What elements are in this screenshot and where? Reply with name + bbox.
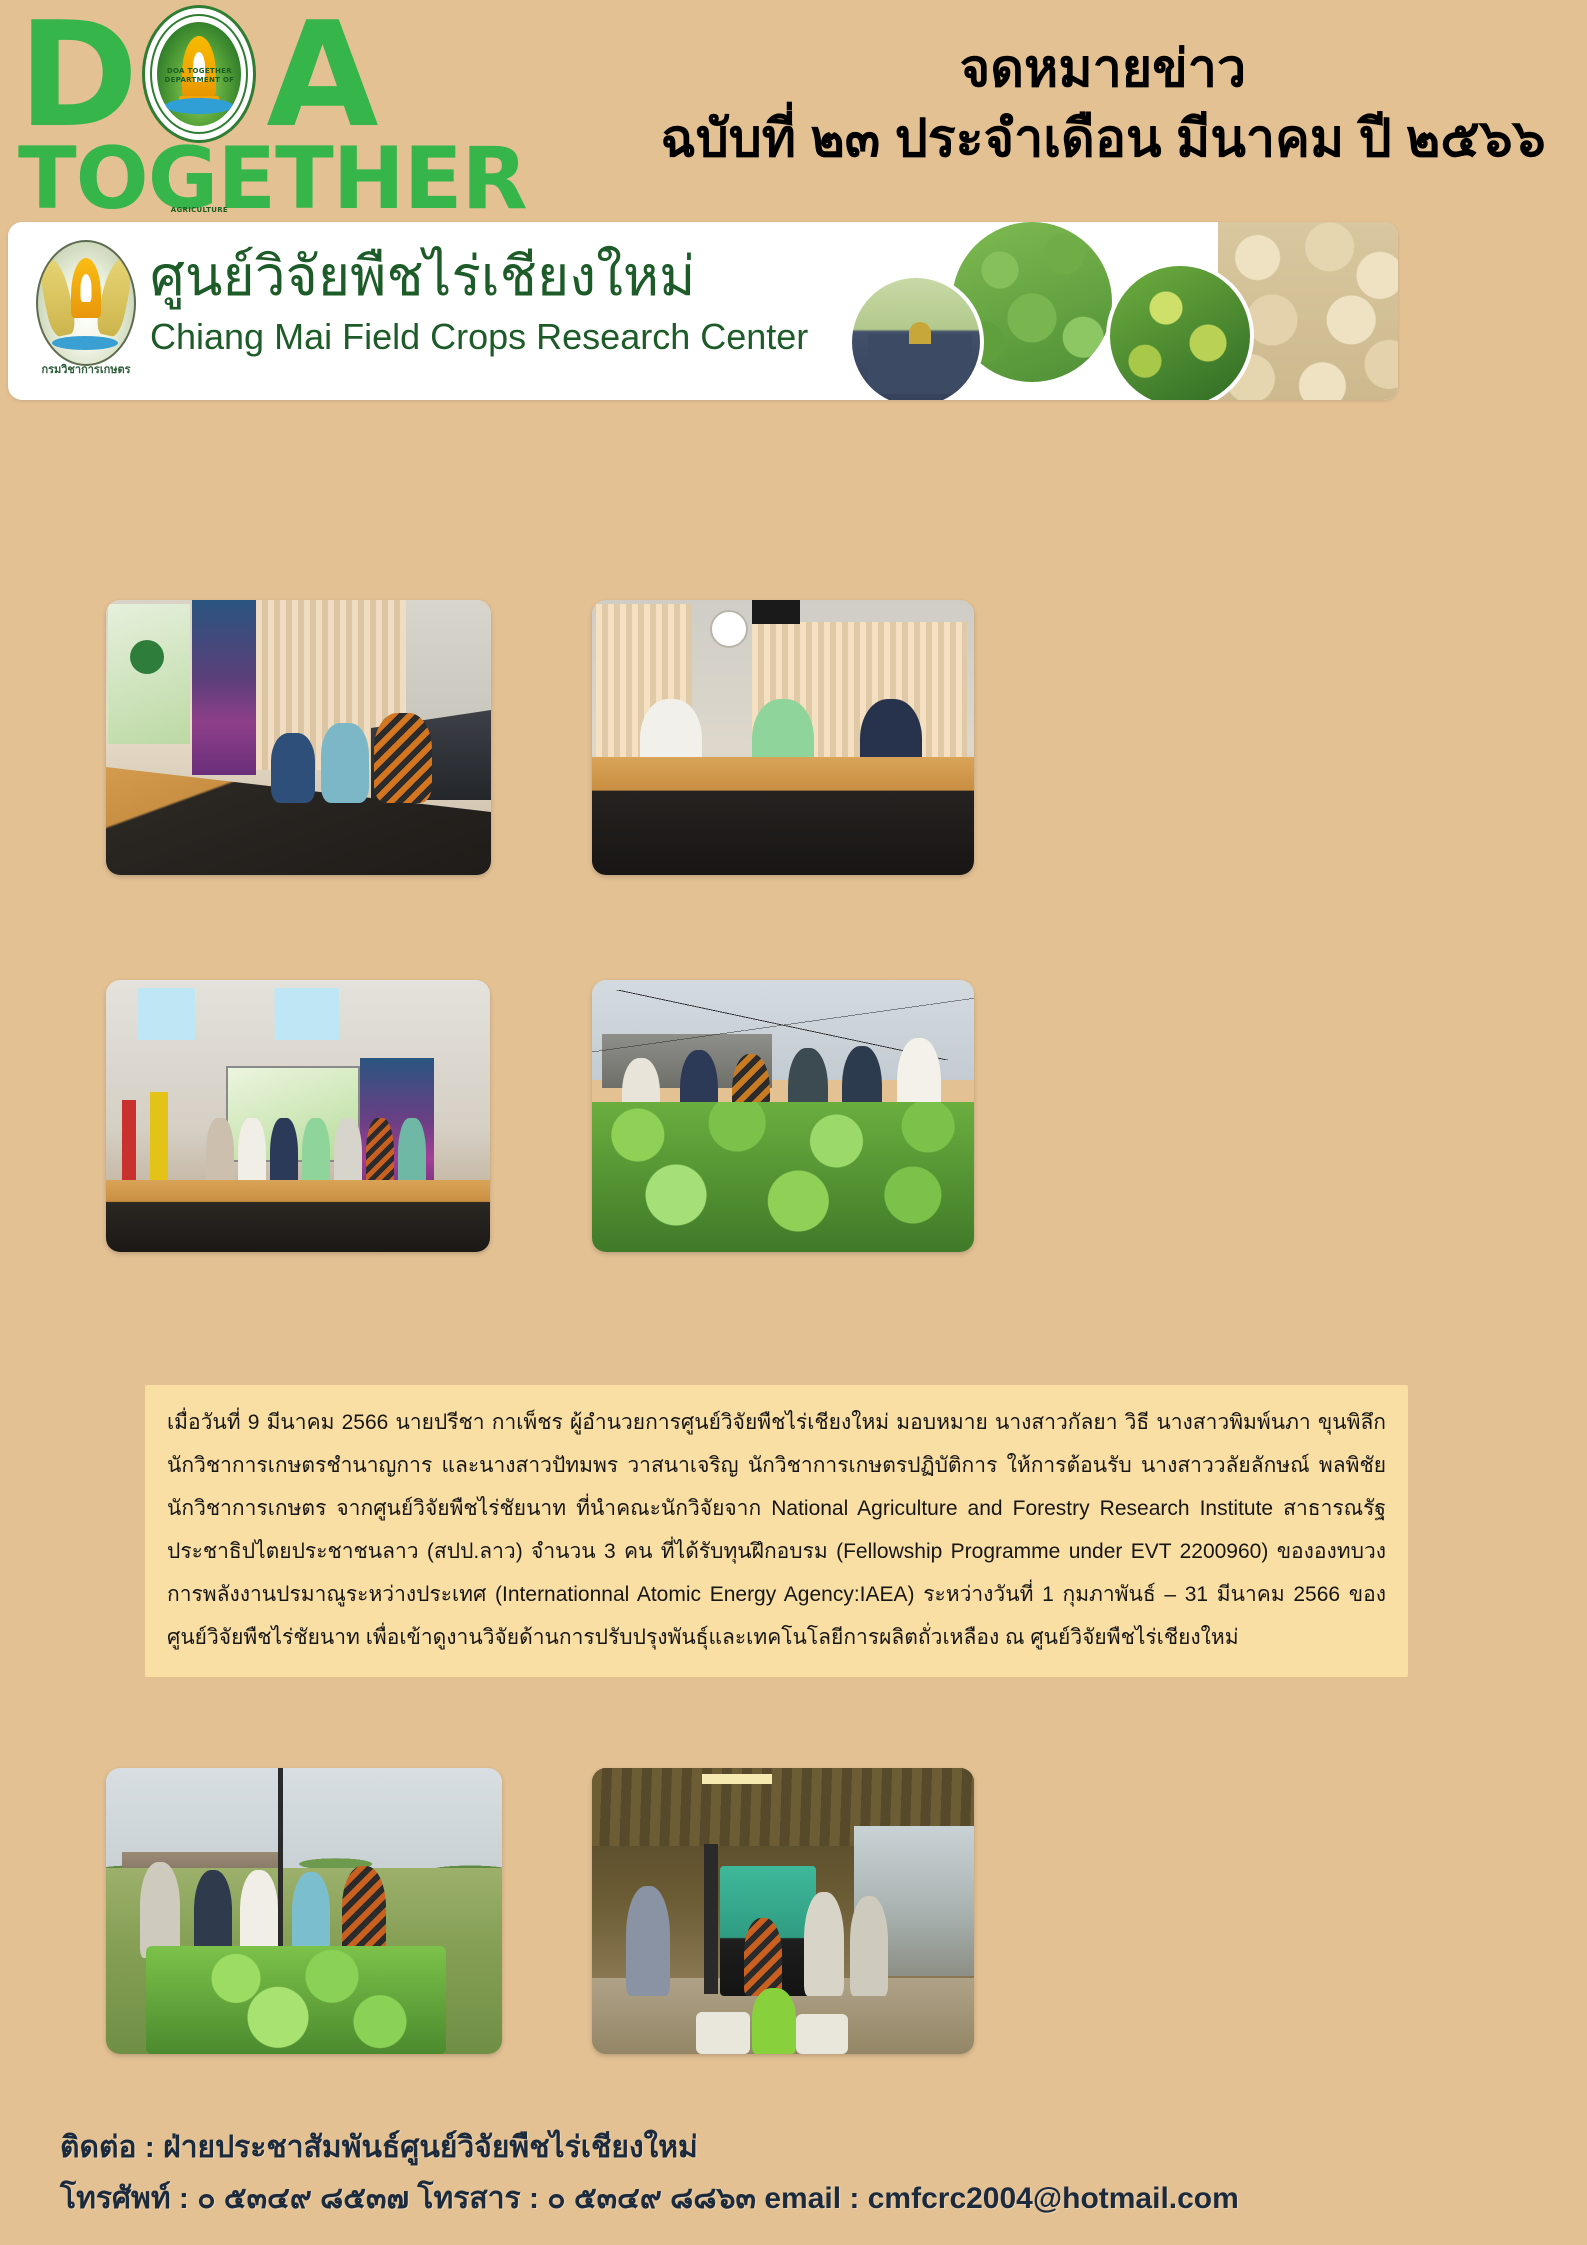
contact-footer: ติดต่อ : ฝ่ายประชาสัมพันธ์ศูนย์วิจัยพืชไ… <box>60 2125 1460 2221</box>
doa-emblem-icon: กรมวิชาการเกษตร <box>30 238 142 380</box>
newsletter-title: จดหมายข่าว ฉบับที่ ๒๓ ประจำเดือน มีนาคม … <box>653 38 1553 174</box>
outdoor-demonstration-plot-photo <box>106 1768 502 2054</box>
contact-line-department: ติดต่อ : ฝ่ายประชาสัมพันธ์ศูนย์วิจัยพืชไ… <box>60 2125 1460 2170</box>
seal-bottom-text: DOA TOGETHER <box>142 6 256 136</box>
warehouse-forklift-seed-photo <box>592 1768 974 2054</box>
wall-clock-icon <box>710 610 748 648</box>
meeting-room-attendees-photo <box>106 600 491 875</box>
center-name-banner: กรมวิชาการเกษตร ศูนย์วิจัยพืชไร่เชียงใหม… <box>8 222 1398 400</box>
three-researchers-seated-photo <box>592 600 974 875</box>
doa-logo-together: TOGETHER <box>18 136 658 222</box>
group-photo-with-certificates <box>106 980 490 1252</box>
news-body-paragraph: เมื่อวันที่ 9 มีนาคม 2566 นายปรีชา กาเพ็… <box>167 1401 1386 1659</box>
doa-logo-wordmark-line1: D DEPARTMENT OF AGRICULTURE DOA TOGETHER… <box>18 10 658 140</box>
doa-letter-d: D <box>18 3 136 148</box>
newsletter-title-line2: ฉบับที่ ๒๓ ประจำเดือน มีนาคม ปี ๒๕๖๖ <box>653 106 1553 174</box>
newsletter-title-line1: จดหมายข่าว <box>653 38 1553 100</box>
field-visit-soybean-plot-photo <box>592 980 974 1252</box>
doa-emblem-label: กรมวิชาการเกษตร <box>30 360 142 378</box>
banner-text-block: ศูนย์วิจัยพืชไร่เชียงใหม่ Chiang Mai Fie… <box>150 244 770 358</box>
doa-letter-a: A <box>266 3 376 148</box>
banner-title-thai: ศูนย์วิจัยพืชไร่เชียงใหม่ <box>150 244 770 309</box>
doa-seal-icon: DEPARTMENT OF AGRICULTURE DOA TOGETHER <box>142 5 260 145</box>
banner-photo-collage <box>838 222 1398 400</box>
soybean-pods-photo <box>1106 262 1254 400</box>
news-body-textbox: เมื่อวันที่ 9 มีนาคม 2566 นายปรีชา กาเพ็… <box>145 1385 1408 1677</box>
contact-line-phone-email: โทรศัพท์ : ๐ ๕๓๔๙ ๘๕๓๗ โทรสาร : ๐ ๕๓๔๙ ๘… <box>60 2176 1460 2221</box>
center-signboard-photo <box>848 274 984 400</box>
banner-title-english: Chiang Mai Field Crops Research Center <box>150 315 770 358</box>
